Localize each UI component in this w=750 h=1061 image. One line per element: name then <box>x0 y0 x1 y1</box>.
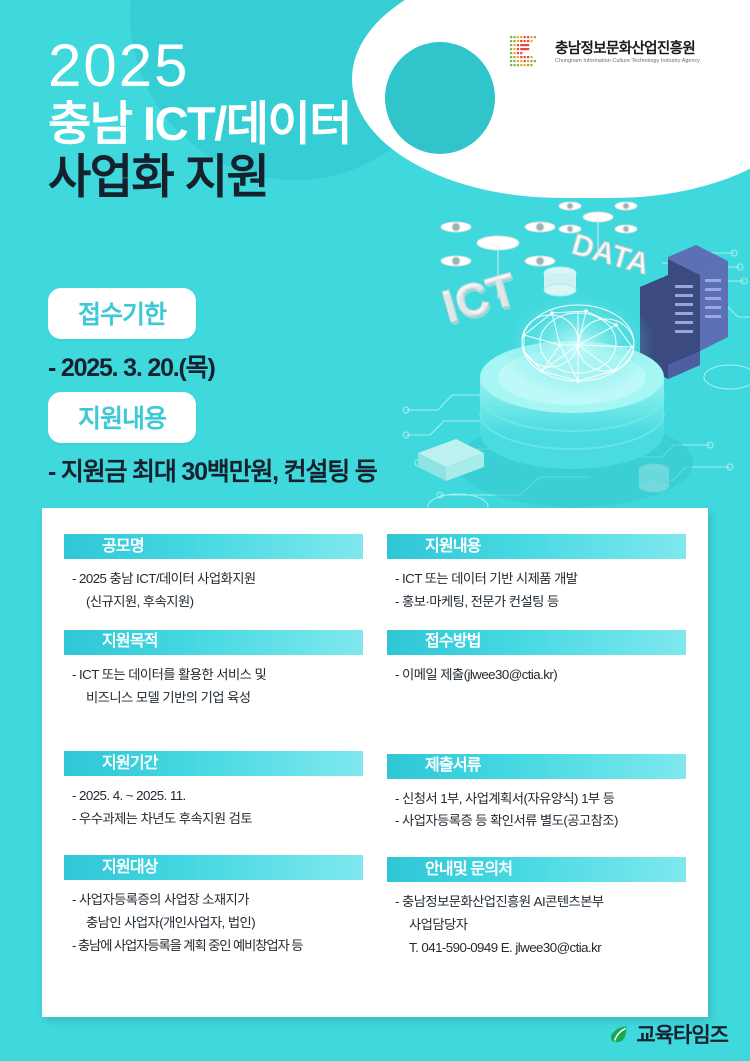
section-jechulseoryu: 제출서류 - 신청서 1부, 사업계획서(자유양식) 1부 등 - 사업자등록증… <box>387 754 686 834</box>
section-line: - 2025. 4. ~ 2025. 11. <box>72 785 359 808</box>
section-header-bar: 지원기간 <box>64 751 363 776</box>
key-fact-deadline: 접수기한 - 2025. 3. 20.(목) <box>48 288 215 384</box>
section-gongmomyeong: 공모명 - 2025 충남 ICT/데이터 사업화지원 (신규지원, 후속지원) <box>64 534 363 614</box>
section-line: (신규지원, 후속지원) <box>72 591 359 614</box>
poster-headline: 2025 충남 ICT/데이터 사업화 지원 <box>48 36 351 203</box>
section-jiwonnaeyong: 지원내용 - ICT 또는 데이터 기반 시제품 개발 - 홍보·마케팅, 전문… <box>387 534 686 614</box>
data-platform-cylinder <box>480 341 664 469</box>
section-header-bar: 안내및 문의처 <box>387 857 686 882</box>
leaf-swirl-icon <box>608 1023 630 1045</box>
section-line: - 사업자등록증 등 확인서류 별도(공고참조) <box>395 810 682 833</box>
fact-detail-deadline: - 2025. 3. 20.(목) <box>48 348 215 384</box>
section-jiwongigan: 지원기간 - 2025. 4. ~ 2025. 11. - 우수과제는 차년도 … <box>64 751 363 831</box>
data-disk-small-2 <box>639 464 669 492</box>
platform-shadow <box>457 419 693 507</box>
headline-line2: 사업화 지원 <box>48 151 351 204</box>
section-line: - 사업자등록증의 사업장 소재지가 <box>72 889 359 912</box>
section-line: - 신청서 1부, 사업계획서(자유양식) 1부 등 <box>395 788 682 811</box>
footer-brand: 교육타임즈 <box>608 1019 728 1049</box>
section-jiwonmokjeok: 지원목적 - ICT 또는 데이터를 활용한 서비스 및 비즈니스 모델 기반의… <box>64 630 363 710</box>
agency-logo: 충남정보문화산업진흥원 Chungnam Information Culture… <box>508 33 700 73</box>
drone-icon-2 <box>559 202 637 255</box>
svg-text:ICT: ICT <box>436 262 522 332</box>
ict-3d-label: ICT ICT <box>436 262 524 335</box>
section-header-bar: 지원내용 <box>387 534 686 559</box>
section-line: 충남인 사업자(개인사업자, 법인) <box>72 912 359 935</box>
info-card-right-column: 지원내용 - ICT 또는 데이터 기반 시제품 개발 - 홍보·마케팅, 전문… <box>387 534 686 966</box>
footer-brand-text: 교육타임즈 <box>636 1019 728 1049</box>
contact-phone-email: T. 041-590-0949 E. jlwee30@ctia.kr <box>395 937 682 960</box>
section-header-bar: 제출서류 <box>387 754 686 779</box>
circuit-traces <box>403 250 750 515</box>
data-3d-label: DATA <box>568 228 653 281</box>
wireframe-brain <box>522 305 634 383</box>
info-card: 공모명 - 2025 충남 ICT/데이터 사업화지원 (신규지원, 후속지원)… <box>42 508 708 1017</box>
fact-detail-support: - 지원금 최대 30백만원, 컨설팅 등 <box>48 452 377 488</box>
pill-label-support: 지원내용 <box>48 392 196 443</box>
server-rack-group <box>640 245 728 379</box>
headline-year: 2025 <box>48 36 351 96</box>
drone-icon-1 <box>441 222 555 299</box>
key-fact-support: 지원내용 - 지원금 최대 30백만원, 컨설팅 등 <box>48 392 377 488</box>
decor-teal-circle <box>385 42 495 154</box>
section-line: - 충남에 사업자등록을 계획 중인 예비창업자 등 <box>72 935 359 958</box>
section-heading: 제출서류 <box>425 758 481 774</box>
section-line: - 충남정보문화산업진흥원 AI콘텐츠본부 <box>395 891 682 914</box>
section-heading: 지원기간 <box>102 756 158 772</box>
section-line: 비즈니스 모델 기반의 기업 육성 <box>72 687 359 710</box>
section-header-bar: 공모명 <box>64 534 363 559</box>
ict-data-isometric-illustration: ICT ICT DATA <box>400 195 750 515</box>
section-line: - 홍보·마케팅, 전문가 컨설팅 등 <box>395 591 682 614</box>
section-heading: 공모명 <box>102 539 144 555</box>
poster-root: 충남정보문화산업진흥원 Chungnam Information Culture… <box>0 0 750 1061</box>
svg-text:DATA: DATA <box>568 228 653 281</box>
section-line: - ICT 또는 데이터 기반 시제품 개발 <box>395 568 682 591</box>
agency-name-en: Chungnam Information Culture Technology … <box>555 59 700 65</box>
section-line: - 2025 충남 ICT/데이터 사업화지원 <box>72 568 359 591</box>
section-heading: 지원목적 <box>102 634 158 650</box>
iso-block <box>418 439 484 481</box>
info-card-left-column: 공모명 - 2025 충남 ICT/데이터 사업화지원 (신규지원, 후속지원)… <box>64 534 363 966</box>
section-line: - 이메일 제출(jlwee30@ctia.kr) <box>395 664 682 687</box>
section-jeopsubangbeop: 접수방법 - 이메일 제출(jlwee30@ctia.kr) <box>387 630 686 687</box>
section-line: - ICT 또는 데이터를 활용한 서비스 및 <box>72 664 359 687</box>
chungnam-agency-logo-mark-icon <box>508 33 548 73</box>
section-jiwondaesang: 지원대상 - 사업자등록증의 사업장 소재지가 충남인 사업자(개인사업자, 법… <box>64 855 363 958</box>
section-line: 사업담당자 <box>395 914 682 937</box>
section-header-bar: 지원목적 <box>64 630 363 655</box>
section-header-bar: 지원대상 <box>64 855 363 880</box>
section-heading: 안내및 문의처 <box>425 862 512 878</box>
data-disk-small <box>544 267 576 296</box>
svg-text:ICT: ICT <box>438 265 524 335</box>
agency-name-kr: 충남정보문화산업진흥원 <box>555 42 700 57</box>
section-heading: 접수방법 <box>425 634 481 650</box>
headline-line1: 충남 ICT/데이터 <box>48 98 351 151</box>
section-header-bar: 접수방법 <box>387 630 686 655</box>
brain-glow <box>500 289 656 397</box>
section-line: - 우수과제는 차년도 후속지원 검토 <box>72 808 359 831</box>
pill-label-deadline: 접수기한 <box>48 288 196 339</box>
section-heading: 지원대상 <box>102 860 158 876</box>
section-anmae-munuicheo: 안내및 문의처 - 충남정보문화산업진흥원 AI콘텐츠본부 사업담당자 T. 0… <box>387 857 686 960</box>
section-heading: 지원내용 <box>425 539 481 555</box>
